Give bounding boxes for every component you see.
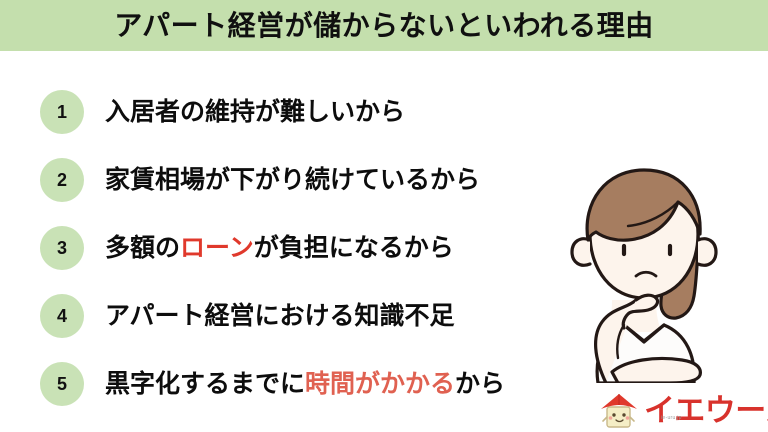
reason-text: 黒字化するまでに時間がかかるから [105, 371, 505, 397]
reasons-list: 1 入居者の維持が難しいから 2 家賃相場が下がり続けているから 3 多額のロー… [40, 78, 540, 418]
list-item: 1 入居者の維持が難しいから [40, 78, 540, 146]
page-title: アパート経営が儲からないといわれる理由 [114, 12, 654, 40]
reason-text-part: アパート経営における知識不足 [105, 302, 455, 330]
reason-number-badge: 2 [40, 158, 84, 202]
header-band: アパート経営が儲からないといわれる理由 [0, 0, 768, 51]
list-item: 4 アパート経営における知識不足 [40, 282, 540, 350]
reason-text-highlight: ローン [180, 234, 254, 262]
reason-number: 3 [57, 238, 67, 259]
reason-text-part: 家賃相場が下がり続けているから [105, 166, 480, 194]
reason-text: 家賃相場が下がり続けているから [105, 167, 480, 193]
reason-text-highlight: 時間がかかる [305, 370, 455, 398]
reason-text-part: から [455, 370, 505, 398]
reason-number-badge: 3 [40, 226, 84, 270]
reason-number-badge: 5 [40, 362, 84, 406]
reason-text-part: 入居者の維持が難しいから [105, 98, 405, 126]
house-mascot-icon [598, 391, 642, 429]
reason-number-badge: 1 [40, 90, 84, 134]
reason-text: 入居者の維持が難しいから [105, 99, 405, 125]
reason-number-badge: 4 [40, 294, 84, 338]
ieuru-logo[interactable]: イエウール ie-uru.jp [598, 390, 763, 430]
thinking-woman-illustration [520, 128, 768, 383]
reason-number: 1 [57, 102, 67, 123]
reason-number: 5 [57, 374, 67, 395]
reason-text-part: が負担になるから [254, 234, 454, 262]
reason-text: 多額のローンが負担になるから [105, 235, 454, 261]
reason-text-part: 多額の [105, 234, 180, 262]
reason-number: 4 [57, 306, 67, 327]
list-item: 3 多額のローンが負担になるから [40, 214, 540, 282]
list-item: 2 家賃相場が下がり続けているから [40, 146, 540, 214]
logo-tagline: ie-uru.jp [661, 415, 682, 421]
reason-text: アパート経営における知識不足 [105, 303, 455, 329]
reason-text-part: 黒字化するまでに [105, 370, 305, 398]
list-item: 5 黒字化するまでに時間がかかるから [40, 350, 540, 418]
reason-number: 2 [57, 170, 67, 191]
